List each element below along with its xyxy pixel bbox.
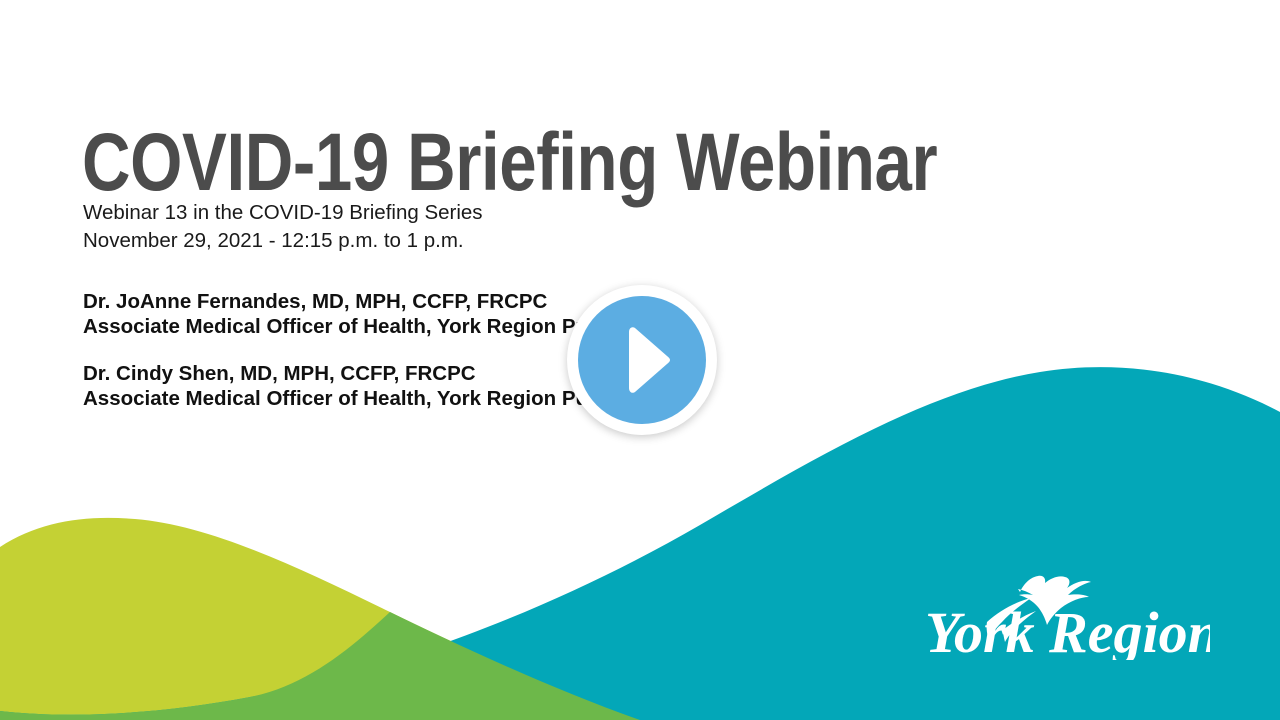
wave-overlap-shape: [0, 612, 640, 720]
page-title: COVID-19 Briefing Webinar: [82, 117, 937, 209]
play-triangle-icon: [567, 285, 717, 435]
subtitle-series-line: Webinar 13 in the COVID-19 Briefing Seri…: [83, 199, 483, 227]
logo-wordmark: York Region: [925, 600, 1210, 660]
webinar-title-slide: COVID-19 Briefing Webinar Webinar 13 in …: [0, 0, 1280, 720]
subtitle-datetime-line: November 29, 2021 - 12:15 p.m. to 1 p.m.: [83, 227, 483, 255]
webinar-subtitle: Webinar 13 in the COVID-19 Briefing Seri…: [83, 199, 483, 255]
lime-wave-shape: [0, 518, 640, 720]
play-button[interactable]: [567, 285, 717, 435]
york-region-logo: York Region: [925, 552, 1210, 660]
